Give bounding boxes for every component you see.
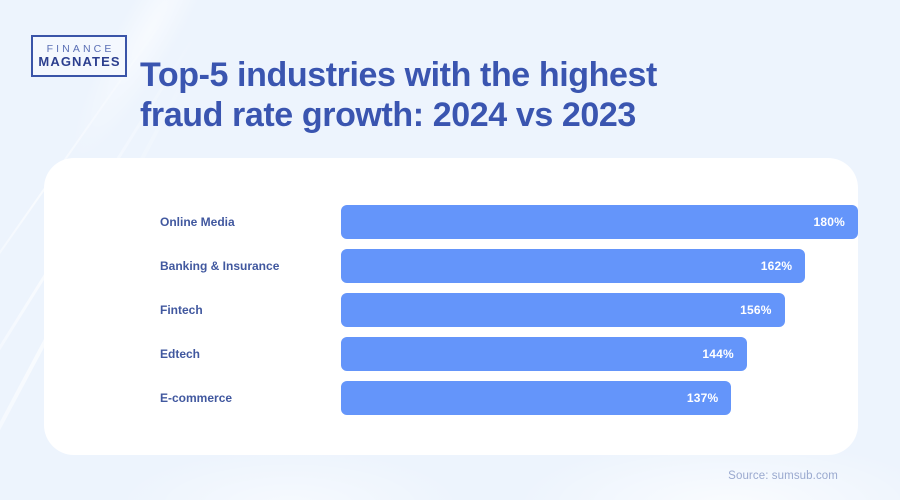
brand-logo-line2: MAGNATES bbox=[37, 55, 120, 68]
chart-bar: 137% bbox=[341, 381, 731, 415]
chart-row-label: E-commerce bbox=[44, 391, 341, 405]
chart-bar-value: 162% bbox=[761, 259, 793, 273]
chart-row: Online Media180% bbox=[44, 205, 858, 239]
chart-row-label: Edtech bbox=[44, 347, 341, 361]
chart-card: Online Media180%Banking & Insurance162%F… bbox=[44, 158, 858, 455]
chart-row-track: 162% bbox=[341, 249, 858, 283]
chart-row-track: 156% bbox=[341, 293, 858, 327]
chart-row: Banking & Insurance162% bbox=[44, 249, 858, 283]
chart-bar: 144% bbox=[341, 337, 747, 371]
chart-bar-value: 137% bbox=[687, 391, 719, 405]
bar-chart: Online Media180%Banking & Insurance162%F… bbox=[44, 205, 858, 415]
background-glow bbox=[120, 450, 460, 500]
chart-row: Edtech144% bbox=[44, 337, 858, 371]
chart-bar-value: 180% bbox=[814, 215, 846, 229]
brand-logo-line1: FINANCE bbox=[44, 44, 115, 55]
chart-bar: 156% bbox=[341, 293, 785, 327]
chart-row-track: 137% bbox=[341, 381, 858, 415]
source-note: Source: sumsub.com bbox=[728, 470, 838, 482]
chart-row-track: 144% bbox=[341, 337, 858, 371]
chart-row-label: Online Media bbox=[44, 215, 341, 229]
chart-row-track: 180% bbox=[341, 205, 858, 239]
chart-bar-value: 144% bbox=[702, 347, 734, 361]
chart-bar: 162% bbox=[341, 249, 805, 283]
chart-row: Fintech156% bbox=[44, 293, 858, 327]
brand-logo: FINANCE MAGNATES bbox=[31, 35, 127, 77]
page-title: Top-5 industries with the highest fraud … bbox=[140, 55, 820, 135]
chart-row-label: Banking & Insurance bbox=[44, 259, 341, 273]
chart-bar-value: 156% bbox=[740, 303, 772, 317]
page-title-line1: Top-5 industries with the highest bbox=[140, 56, 657, 94]
chart-row-label: Fintech bbox=[44, 303, 341, 317]
chart-row: E-commerce137% bbox=[44, 381, 858, 415]
page-title-line2: fraud rate growth: 2024 vs 2023 bbox=[140, 96, 636, 134]
chart-bar: 180% bbox=[341, 205, 858, 239]
